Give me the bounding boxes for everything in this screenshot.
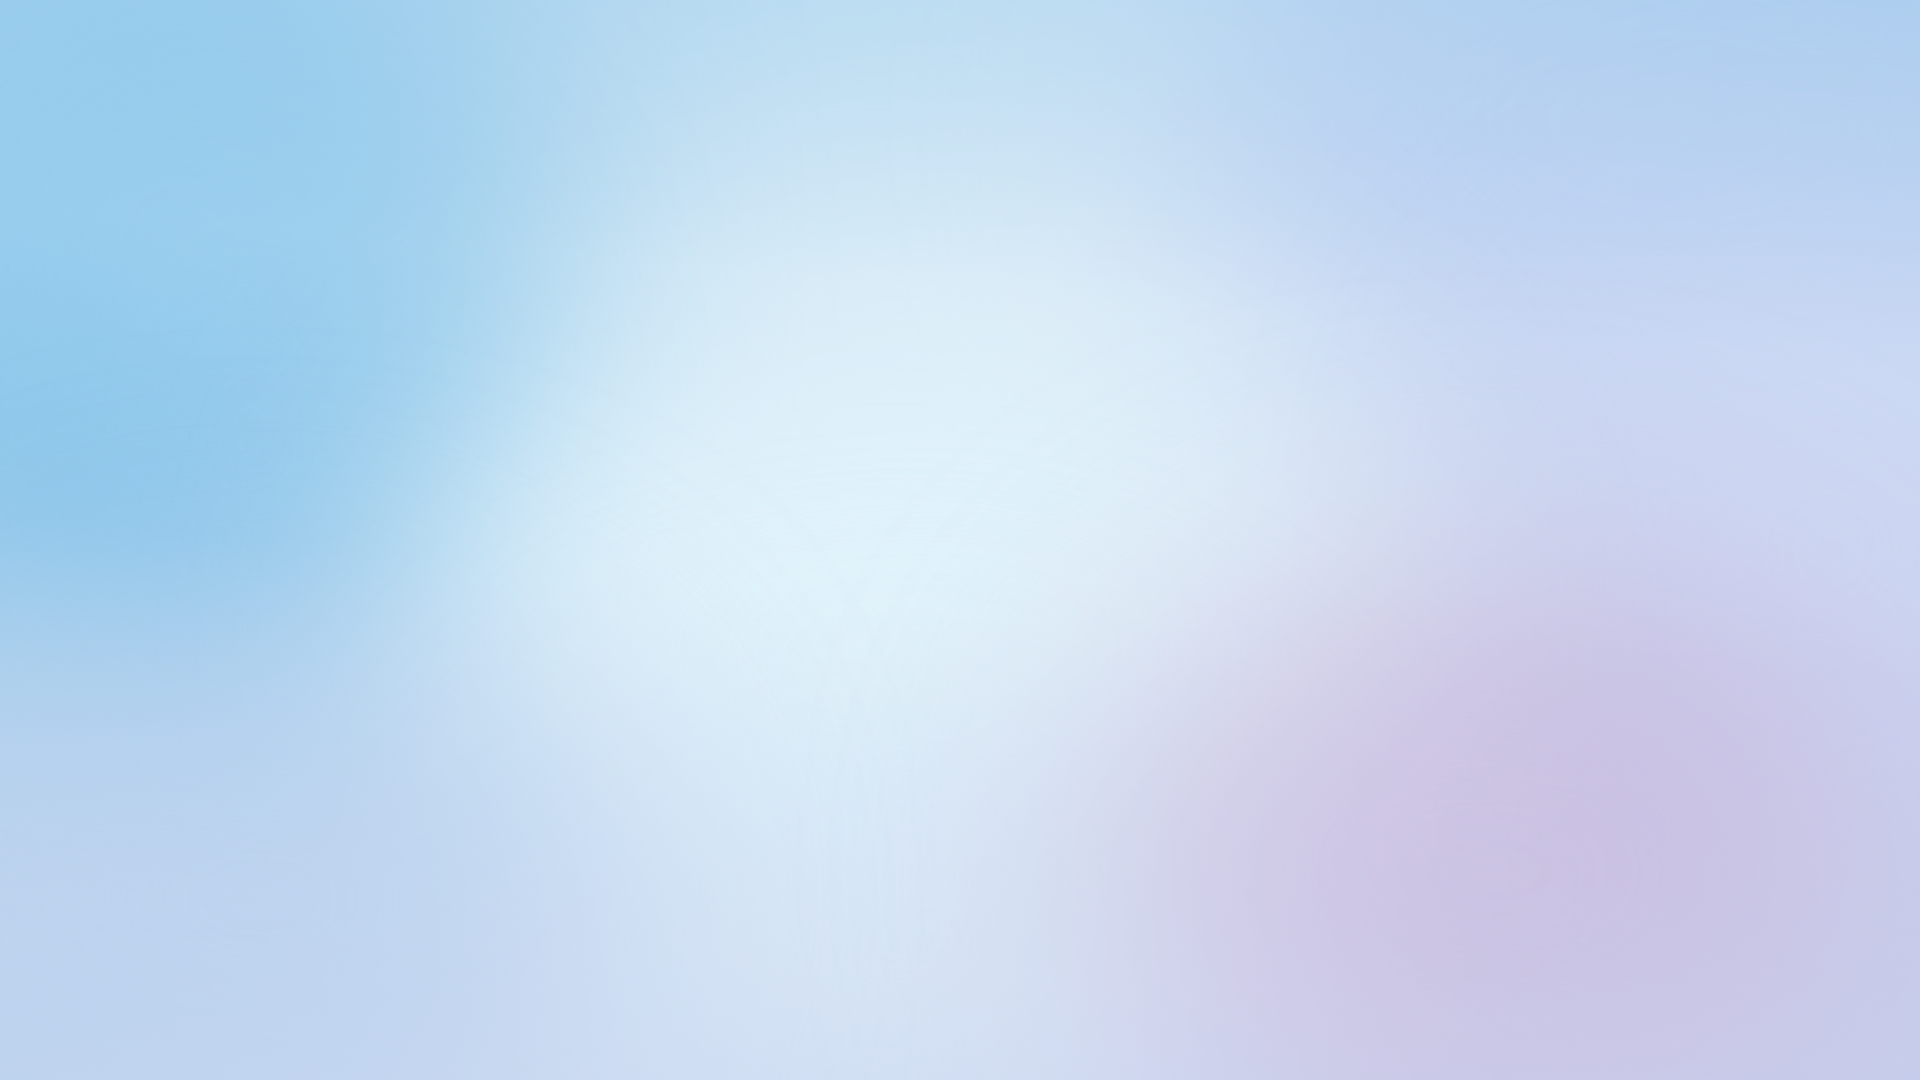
process-arrow-band [88,369,1840,475]
top-annotations-row [0,222,1920,342]
bottom-details-row [0,500,1920,820]
